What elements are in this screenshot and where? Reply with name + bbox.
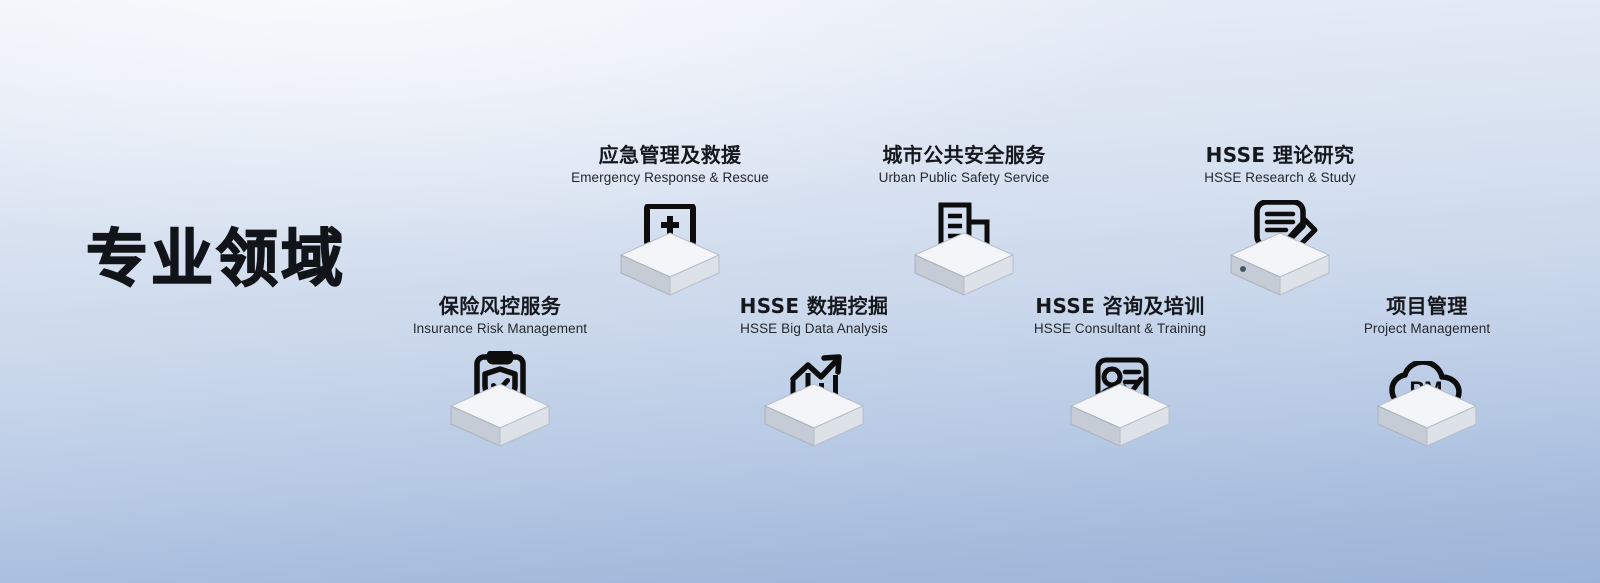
field-artwork [814,198,1114,306]
pedestal-3d [911,229,1017,306]
field-card-hsse-consultant[interactable]: HSSE 咨询及培训 HSSE Consultant & Training [970,295,1270,457]
field-artwork [1130,198,1430,306]
field-artwork [520,198,820,306]
field-title: 城市公共安全服务 [814,144,1114,167]
field-card-hsse-big-data[interactable]: HSSE 数据挖掘 HSSE Big Data Analysis [664,295,964,457]
field-subtitle: HSSE Consultant & Training [970,321,1270,337]
field-subtitle: HSSE Research & Study [1130,170,1430,186]
field-title: 项目管理 [1277,295,1577,318]
page-title: 专业领域 [86,228,346,290]
pedestal-3d [617,229,723,306]
pedestal-3d [1227,229,1333,306]
professional-fields-banner: 专业领域 应急管理及救援 Emergency Response & Rescue [0,0,1600,583]
pedestal-3d [761,380,867,457]
field-card-hsse-research[interactable]: HSSE 理论研究 HSSE Research & Study [1130,144,1430,306]
field-artwork [970,349,1270,457]
field-card-urban-public-safety[interactable]: 城市公共安全服务 Urban Public Safety Service [814,144,1114,306]
field-card-emergency-response[interactable]: 应急管理及救援 Emergency Response & Rescue [520,144,820,306]
field-subtitle: Project Management [1277,321,1577,337]
field-card-project-management[interactable]: 项目管理 Project Management PM [1277,295,1577,457]
field-artwork: PM [1277,349,1577,457]
field-subtitle: Urban Public Safety Service [814,170,1114,186]
field-title: 保险风控服务 [350,295,650,318]
pedestal-3d [1374,380,1480,457]
field-card-insurance-risk[interactable]: 保险风控服务 Insurance Risk Management [350,295,650,457]
pedestal-3d [1067,380,1173,457]
field-title: HSSE 理论研究 [1130,144,1430,167]
field-subtitle: Insurance Risk Management [350,321,650,337]
field-subtitle: Emergency Response & Rescue [520,170,820,186]
field-artwork [350,349,650,457]
field-subtitle: HSSE Big Data Analysis [664,321,964,337]
pedestal-3d [447,380,553,457]
field-artwork [664,349,964,457]
field-title: 应急管理及救援 [520,144,820,167]
